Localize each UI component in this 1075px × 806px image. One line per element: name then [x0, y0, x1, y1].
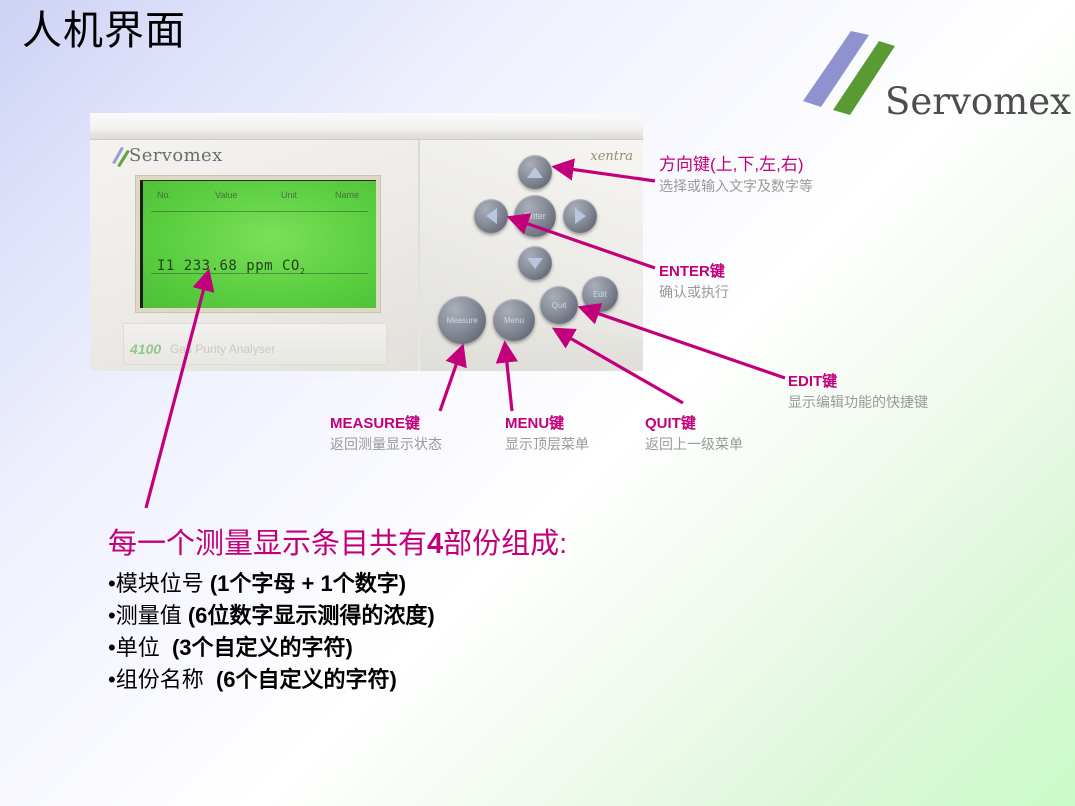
bullet-detail-4: (6个自定义的字符) [216, 667, 397, 692]
body-heading-post: 部份组成: [443, 528, 567, 560]
callout-measure-key: MEASURE键 返回测量显示状态 [330, 412, 442, 454]
key-edit-label: Edit [593, 290, 607, 299]
key-menu-label: Menu [504, 316, 524, 325]
device-brand-label: Servomex [129, 145, 223, 166]
key-measure-label: Measure [446, 316, 477, 325]
key-left[interactable] [474, 199, 508, 233]
lcd-bezel: No. Value Unit Name I1 233.68 ppm CO2 I3… [135, 175, 381, 313]
bullet-dot-4: • [108, 667, 116, 692]
device-top-bezel [90, 113, 643, 140]
callout-enter-key-title-en: ENTER [659, 263, 710, 280]
logo-wordmark: Servomex [885, 80, 1071, 123]
key-menu[interactable]: Menu [493, 299, 535, 341]
lcd-row-1-subscript: 2 [300, 267, 305, 276]
callout-measure-key-subtitle: 返回测量显示状态 [330, 434, 442, 454]
lcd-readout-rows: I1 233.68 ppm CO2 I3 98.92 ppm N2O [157, 229, 305, 308]
body-heading-pre: 每一个测量显示条目共有 [108, 528, 427, 560]
device-photo: Servomex xentra No. Value Unit Name I1 2… [90, 113, 643, 371]
key-quit-label: Quit [552, 301, 567, 310]
callout-quit-key: QUIT键 返回上一级菜单 [645, 412, 743, 454]
callout-arrow-keys: 方向键(上,下,左,右) 选择或输入文字及数字等 [659, 150, 813, 196]
callout-menu-key-subtitle: 显示顶层菜单 [505, 434, 589, 454]
bullet-label-2: 测量值 [116, 603, 182, 628]
lcd-header-no: No. [157, 190, 171, 200]
bullet-detail-1: (1个字母 + 1个数字) [210, 571, 406, 596]
slide-canvas: 人机界面 Servomex Servomex xentra No. Value … [0, 0, 1075, 806]
device-model-number: 4100 [130, 341, 161, 357]
servomex-logo: Servomex [795, 25, 1065, 125]
bullet-label-1: 模块位号 [116, 571, 204, 596]
bullet-detail-2: (6位数字显示测得的浓度) [188, 603, 435, 628]
key-edit[interactable]: Edit [582, 276, 618, 312]
callout-arrow-keys-title: 方向键(上,下,左,右) [659, 150, 813, 175]
lcd-row-1: I1 233.68 ppm CO2 [157, 259, 305, 279]
key-right[interactable] [563, 199, 597, 233]
callout-quit-key-title-en: QUIT [645, 415, 681, 432]
callout-measure-key-title-cn: 键 [405, 415, 420, 432]
device-model-badge: xentra [590, 149, 633, 164]
callout-menu-key-title-en: MENU [505, 415, 549, 432]
key-down[interactable] [518, 246, 552, 280]
lcd-row-1-text: I1 233.68 ppm CO [157, 258, 300, 274]
callout-measure-key-title-en: MEASURE [330, 415, 405, 432]
callout-edit-key-title-en: EDIT [788, 373, 822, 390]
callout-menu-key-title: MENU键 [505, 412, 589, 433]
callout-menu-key-title-cn: 键 [549, 415, 564, 432]
bullet-detail-3: (3个自定义的字符) [172, 635, 353, 660]
lcd-header-unit: Unit [281, 190, 297, 200]
callout-quit-key-title-cn: 键 [681, 415, 696, 432]
callout-quit-key-title: QUIT键 [645, 412, 743, 433]
key-enter-label: Enter [524, 211, 546, 221]
lcd-screen: No. Value Unit Name I1 233.68 ppm CO2 I3… [140, 180, 376, 308]
callout-quit-key-subtitle: 返回上一级菜单 [645, 434, 743, 454]
callout-measure-key-title: MEASURE键 [330, 412, 442, 433]
device-panel-divider [418, 139, 420, 371]
bullet-label-4: 组份名称 [116, 667, 204, 692]
key-up[interactable] [518, 155, 552, 189]
callout-edit-key-title: EDIT键 [788, 370, 928, 391]
arrow-down-icon [527, 258, 543, 269]
lcd-header-rule [151, 211, 368, 212]
callout-edit-key: EDIT键 显示编辑功能的快捷键 [788, 370, 928, 412]
bullet-item-4: •组份名称 (6个自定义的字符) [108, 664, 808, 696]
callout-arrow-keys-subtitle: 选择或输入文字及数字等 [659, 176, 813, 196]
device-product-name: Gas Purity Analyser [170, 342, 275, 356]
callout-enter-key-subtitle: 确认或执行 [659, 282, 729, 302]
callout-enter-key-title-cn: 键 [710, 263, 725, 280]
lcd-footer-rule [151, 273, 368, 274]
callout-edit-key-subtitle: 显示编辑功能的快捷键 [788, 392, 928, 412]
body-heading-number: 4 [427, 528, 443, 560]
bullet-item-3: •单位 (3个自定义的字符) [108, 632, 808, 664]
bullet-item-1: •模块位号 (1个字母 + 1个数字) [108, 568, 808, 600]
lcd-header-name: Name [335, 190, 359, 200]
bullet-item-2: •测量值 (6位数字显示测得的浓度) [108, 600, 808, 632]
arrow-left-icon [486, 208, 497, 224]
callout-enter-key: ENTER键 确认或执行 [659, 260, 729, 302]
key-measure[interactable]: Measure [438, 296, 486, 344]
body-text-block: 每一个测量显示条目共有4部份组成: •模块位号 (1个字母 + 1个数字) •测… [108, 520, 808, 696]
bullet-label-3: 单位 [116, 635, 160, 660]
bullet-dot-3: • [108, 635, 116, 660]
lcd-header-value: Value [215, 190, 237, 200]
page-title: 人机界面 [22, 8, 186, 54]
bullet-dot-1: • [108, 571, 116, 596]
key-quit[interactable]: Quit [540, 286, 578, 324]
arrow-up-icon [527, 167, 543, 178]
arrow-right-icon [575, 208, 586, 224]
bullet-dot-2: • [108, 603, 116, 628]
lcd-column-headers: No. Value Unit Name [143, 190, 376, 204]
callout-enter-key-title: ENTER键 [659, 260, 729, 281]
callout-edit-key-title-cn: 键 [822, 373, 837, 390]
key-enter[interactable]: Enter [514, 195, 556, 237]
callout-menu-key: MENU键 显示顶层菜单 [505, 412, 589, 454]
body-heading: 每一个测量显示条目共有4部份组成: [108, 520, 808, 562]
